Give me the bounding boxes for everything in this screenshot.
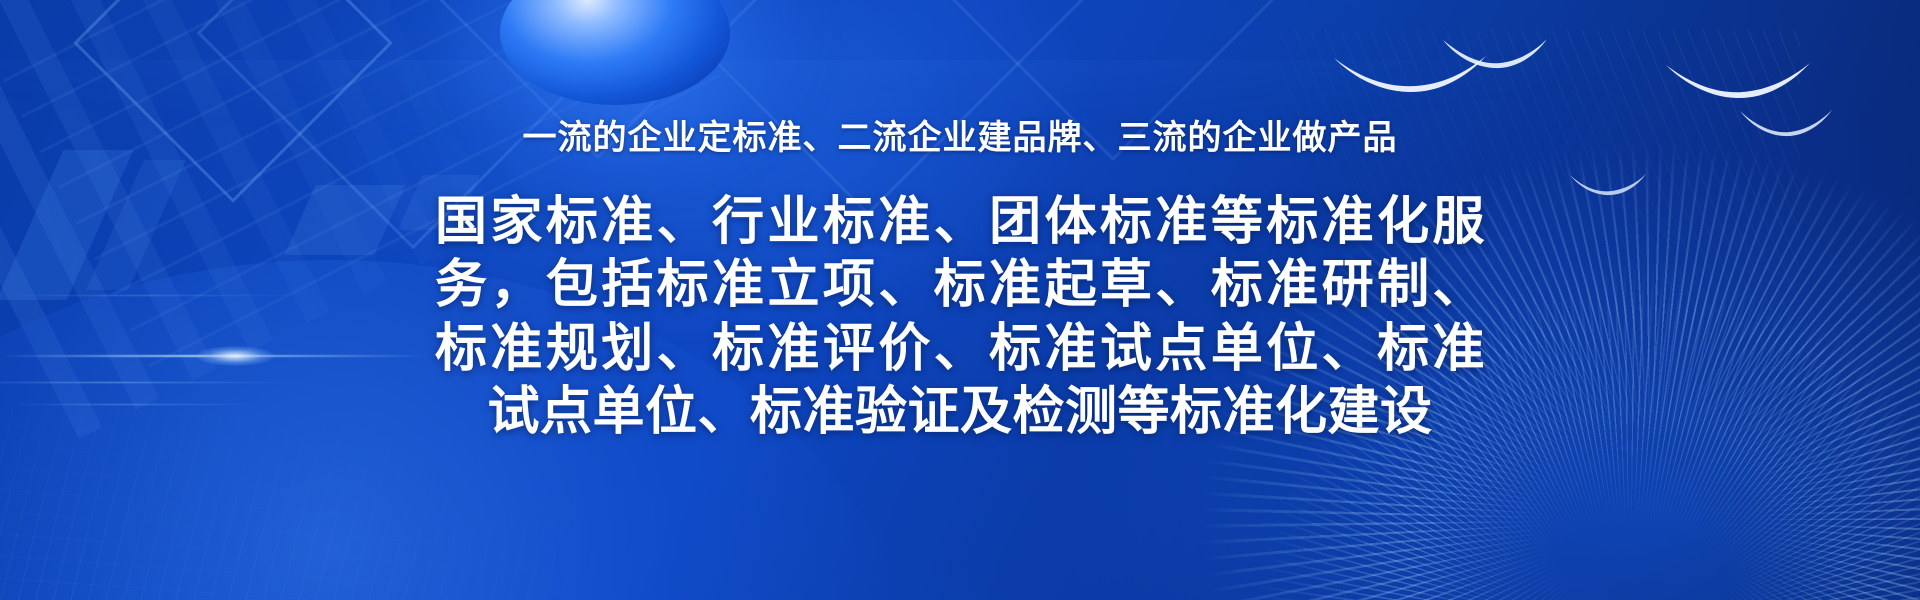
promo-banner: 一流的企业定标准、二流企业建品牌、三流的企业做产品 国家标准、行业标准、团体标准… bbox=[0, 0, 1920, 600]
banner-text: 一流的企业定标准、二流企业建品牌、三流的企业做产品 国家标准、行业标准、团体标准… bbox=[0, 0, 1920, 600]
banner-subtitle: 一流的企业定标准、二流企业建品牌、三流的企业做产品 bbox=[523, 118, 1398, 159]
banner-headline: 国家标准、行业标准、团体标准等标准化服 务，包括标准立项、标准起草、标准研制、 … bbox=[435, 191, 1485, 445]
headline-line-3: 标准规划、标准评价、标准试点单位、标准 bbox=[435, 318, 1485, 381]
headline-line-1: 国家标准、行业标准、团体标准等标准化服 bbox=[435, 191, 1485, 254]
headline-line-2: 务，包括标准立项、标准起草、标准研制、 bbox=[435, 254, 1485, 317]
headline-line-4: 试点单位、标准验证及检测等标准化建设 bbox=[435, 381, 1485, 444]
